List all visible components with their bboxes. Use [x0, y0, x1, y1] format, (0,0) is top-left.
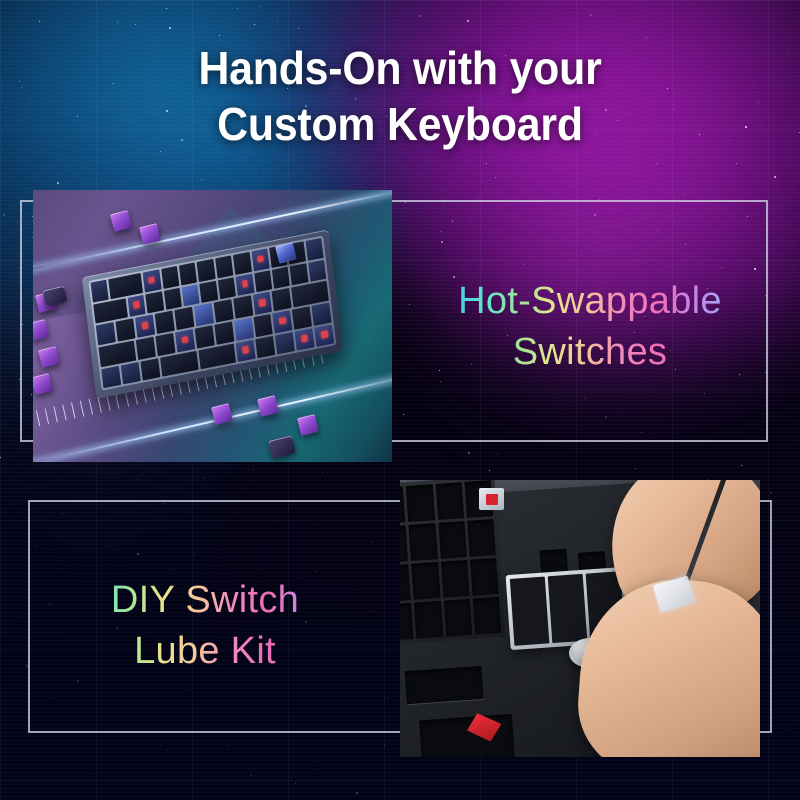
- loose-switch-purple-9: [297, 414, 319, 436]
- keyboard-barebones-photo: [33, 190, 392, 462]
- page-title-line-1: Hands-On with your: [28, 40, 772, 96]
- feature-heading-hot-swappable-line-1: Hot-Swappable: [420, 276, 760, 327]
- page-title-line-2: Custom Keyboard: [28, 96, 772, 152]
- feature-heading-lube-kit-line-1: DIY Switch: [40, 575, 370, 626]
- foam-pocket-1: [405, 666, 484, 704]
- feature-heading-lube-kit-line-2: Lube Kit: [40, 626, 370, 677]
- red-mechanical-switch: [479, 488, 504, 510]
- page-title: Hands-On with your Custom Keyboard: [28, 40, 772, 152]
- feature-heading-lube-kit: DIY Switch Lube Kit: [40, 575, 370, 676]
- feature-heading-hot-swappable-line-2: Switches: [420, 327, 760, 378]
- feature-heading-hot-swappable: Hot-Swappable Switches: [420, 276, 760, 377]
- foam-pocket-2: [419, 714, 515, 757]
- switch-lube-station-photo: [400, 480, 760, 757]
